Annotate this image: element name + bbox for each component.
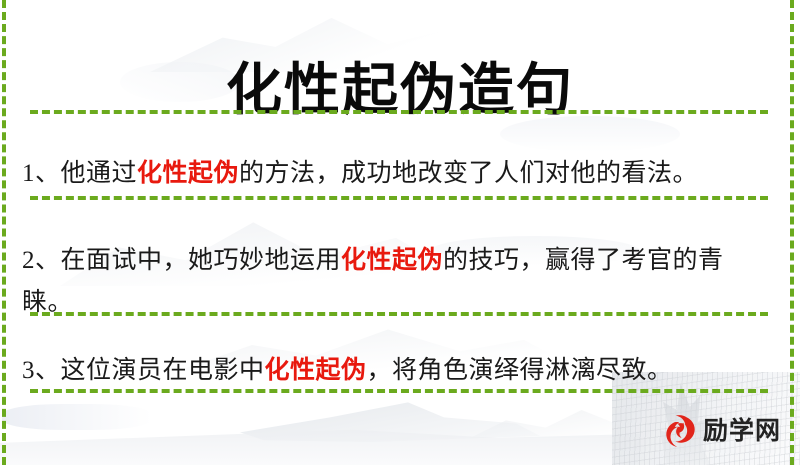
sentence-3-keyword: 化性起伪: [265, 357, 367, 384]
page-title: 化性起伪造句: [0, 54, 800, 128]
dashed-border-left: [2, 0, 6, 465]
site-logo[interactable]: 励学网: [662, 414, 781, 450]
watermark-water-tint: [2, 404, 152, 430]
dashed-divider-4: [30, 389, 768, 393]
dashed-divider-2: [30, 196, 768, 200]
dashed-divider-3: [30, 312, 768, 316]
sentence-2-keyword: 化性起伪: [341, 247, 443, 274]
site-logo-text: 励学网: [703, 418, 781, 446]
sentence-3-text-before: 这位演员在电影中: [61, 357, 265, 384]
sentence-3-text-after: ，将角色演绎得淋漓尽致。: [367, 357, 673, 384]
dashed-divider-1: [30, 110, 768, 114]
dashed-border-right: [790, 0, 794, 465]
sentence-1-text-before: 他通过: [61, 160, 138, 187]
sentence-card-page: 化性起伪造句 1、他通过化性起伪的方法，成功地改变了人们对他的看法。 2、在面试…: [0, 0, 800, 465]
sentence-2-text-before: 在面试中，她巧妙地运用: [61, 247, 342, 274]
sentence-3-index: 3、: [22, 357, 61, 384]
sentence-2-index: 2、: [22, 247, 61, 274]
example-sentence-3: 3、这位演员在电影中化性起伪，将角色演绎得淋漓尽致。: [22, 350, 774, 392]
example-sentence-1: 1、他通过化性起伪的方法，成功地改变了人们对他的看法。: [22, 153, 774, 195]
watermark-boat: [240, 398, 540, 442]
watermark-riverbank: [0, 424, 640, 465]
watermark-hills-right: [470, 398, 650, 438]
sentence-1-keyword: 化性起伪: [137, 160, 239, 187]
sentence-1-text-after: 的方法，成功地改变了人们对他的看法。: [239, 160, 698, 187]
sentence-1-index: 1、: [22, 160, 61, 187]
flame-swirl-logo-icon: [662, 414, 698, 450]
